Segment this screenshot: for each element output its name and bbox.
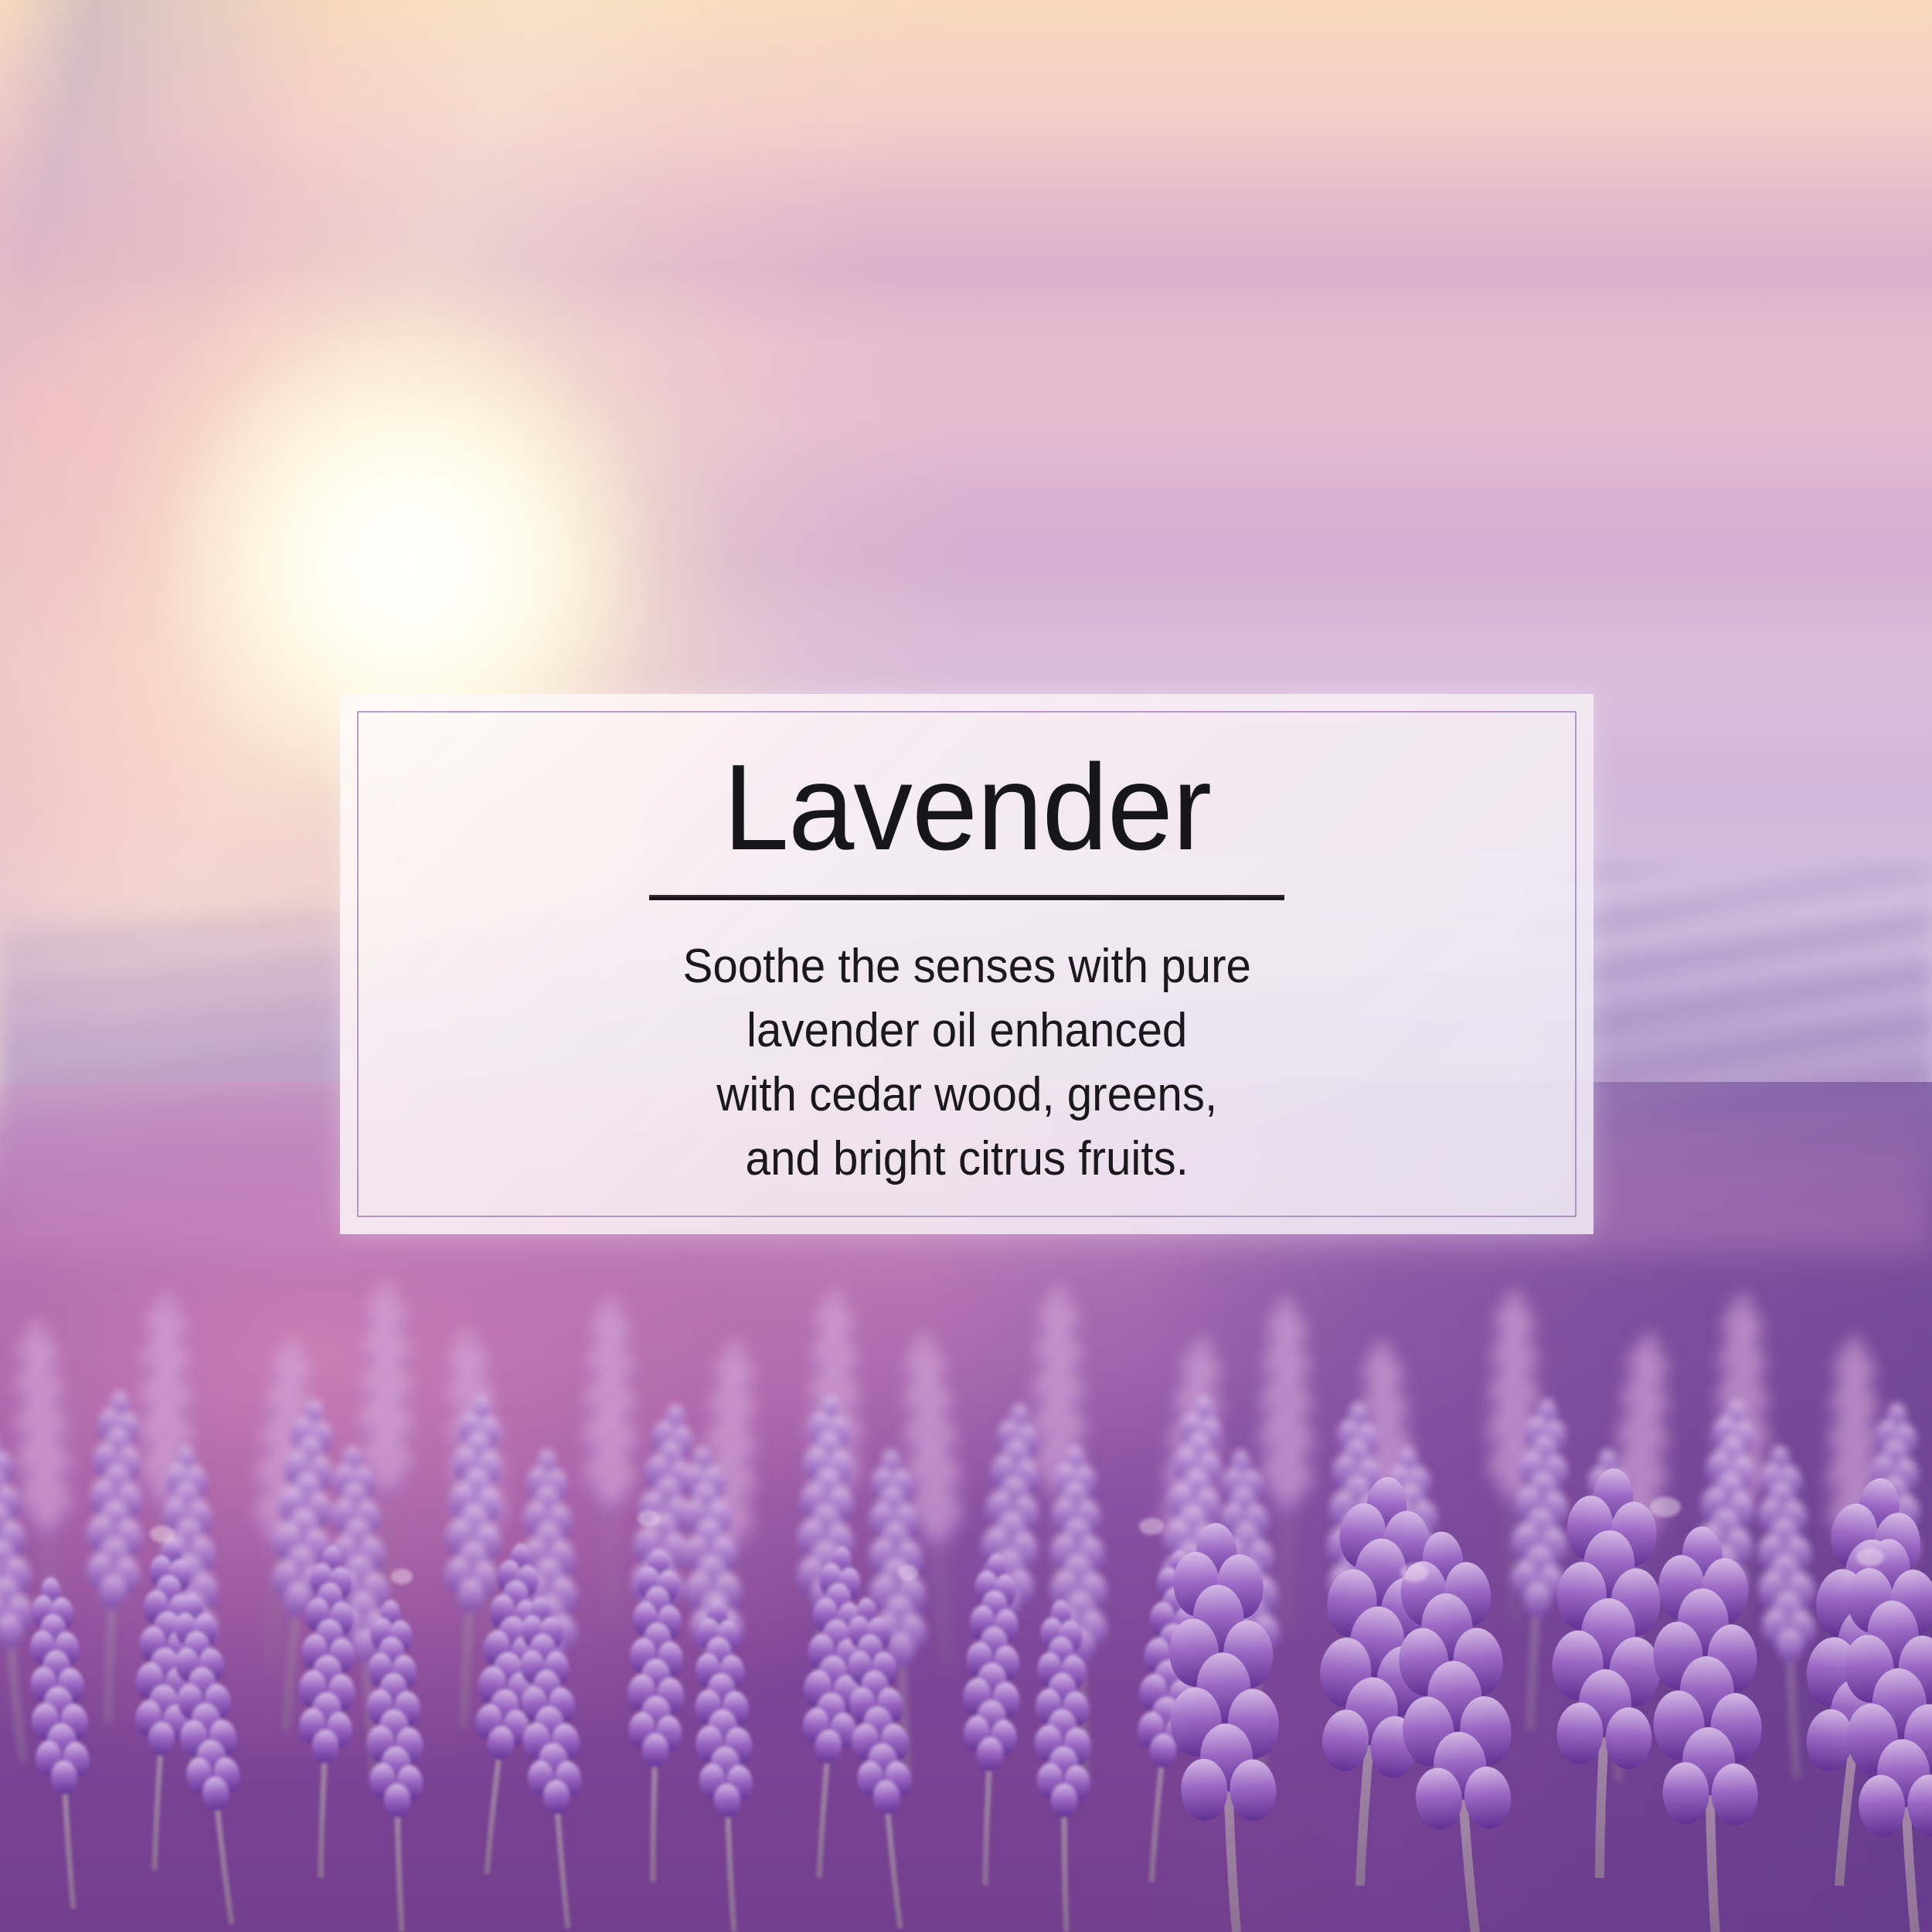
title-divider — [649, 895, 1284, 900]
card-content: Lavender Soothe the senses with pure lav… — [340, 694, 1594, 1234]
body-line-2: lavender oil enhanced — [682, 998, 1250, 1063]
body-line-3: with cedar wood, greens, — [682, 1063, 1250, 1127]
page-title: Lavender — [723, 747, 1210, 869]
product-description-card: Lavender Soothe the senses with pure lav… — [340, 694, 1594, 1234]
card-body-text: Soothe the senses with pure lavender oil… — [682, 934, 1250, 1191]
body-line-4: and bright citrus fruits. — [682, 1127, 1250, 1191]
body-line-1: Soothe the senses with pure — [682, 934, 1250, 998]
lavender-banner-image: Lavender Soothe the senses with pure lav… — [0, 0, 1932, 1932]
